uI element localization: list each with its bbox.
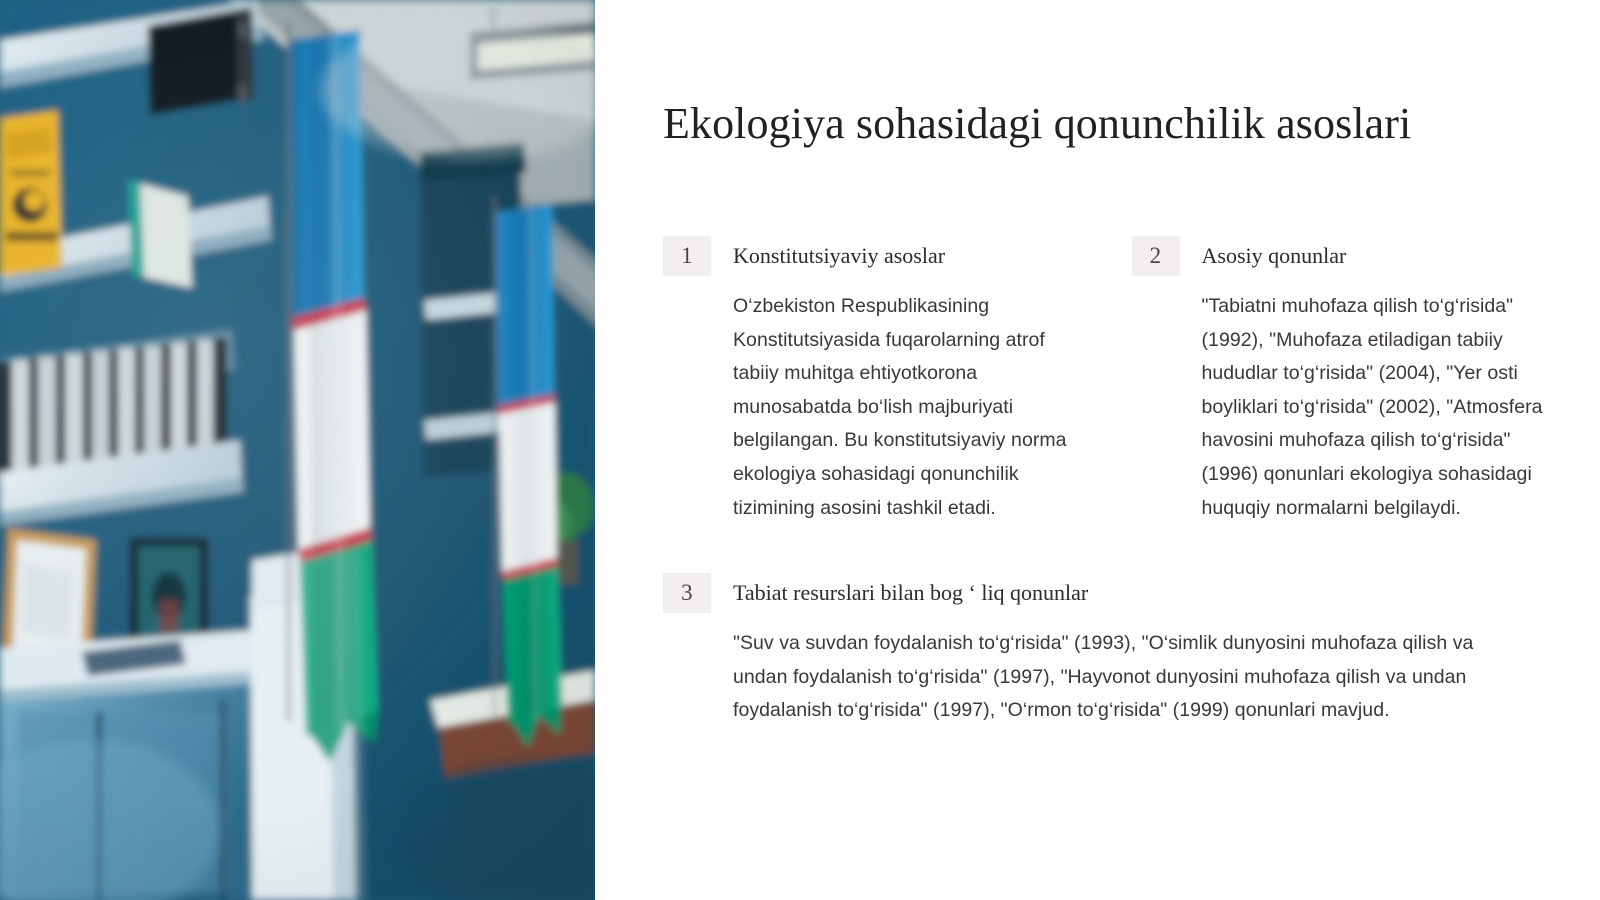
slide-photo	[0, 0, 595, 900]
section-2-body: "Tabiatni muhofaza qilish to‘g‘risida" (…	[1132, 290, 1549, 525]
office-interior-photo	[0, 0, 595, 900]
section-1-body: O‘zbekiston Respublikasining Konstitutsi…	[663, 290, 1080, 525]
section-2-header: 2 Asosiy qonunlar	[1132, 236, 1549, 276]
page-title: Ekologiya sohasidagi qonunchilik asoslar…	[663, 93, 1423, 155]
section-2-title: Asosiy qonunlar	[1180, 236, 1549, 276]
section-item-2: 2 Asosiy qonunlar "Tabiatni muhofaza qil…	[1132, 236, 1549, 525]
section-1-header: 1 Konstitutsiyaviy asoslar	[663, 236, 1080, 276]
section-3-header: 3 Tabiat resurslari bilan bog ‘ liq qonu…	[663, 573, 1548, 613]
section-1-number-badge: 1	[663, 236, 711, 276]
section-3-body: "Suv va suvdan foydalanish to‘g‘risida" …	[663, 627, 1523, 728]
sections-grid: 1 Konstitutsiyaviy asoslar O‘zbekiston R…	[663, 236, 1548, 728]
section-3-number-badge: 3	[663, 573, 711, 613]
section-1-title: Konstitutsiyaviy asoslar	[711, 236, 1080, 276]
sections-row-top: 1 Konstitutsiyaviy asoslar O‘zbekiston R…	[663, 236, 1548, 525]
section-3-title: Tabiat resurslari bilan bog ‘ liq qonunl…	[711, 573, 1548, 613]
slide: Ekologiya sohasidagi qonunchilik asoslar…	[0, 0, 1600, 900]
content-panel: Ekologiya sohasidagi qonunchilik asoslar…	[595, 0, 1600, 900]
section-item-1: 1 Konstitutsiyaviy asoslar O‘zbekiston R…	[663, 236, 1080, 525]
section-item-3: 3 Tabiat resurslari bilan bog ‘ liq qonu…	[663, 573, 1548, 728]
sections-row-bottom: 3 Tabiat resurslari bilan bog ‘ liq qonu…	[663, 573, 1548, 728]
section-2-number-badge: 2	[1132, 236, 1180, 276]
